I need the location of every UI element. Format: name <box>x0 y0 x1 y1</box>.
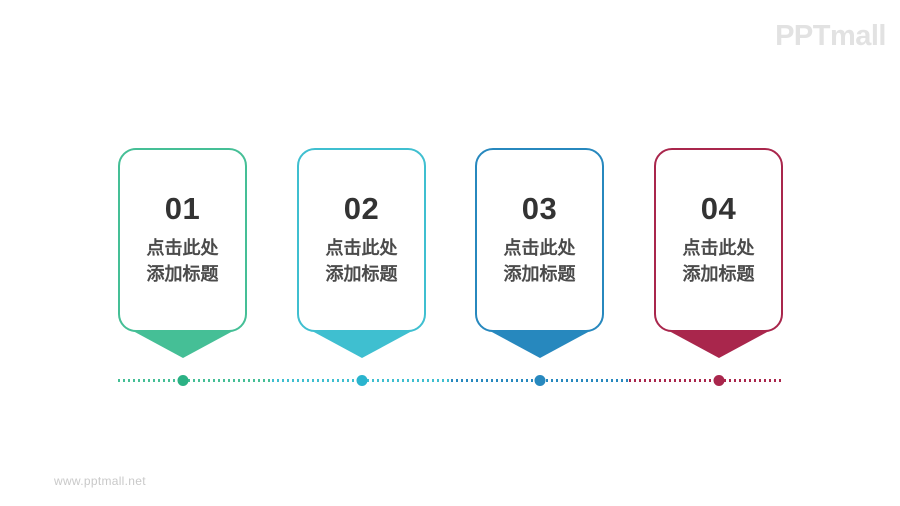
footer-website-url: www.pptmall.net <box>54 474 146 488</box>
timeline-dot-04[interactable] <box>713 375 724 386</box>
timeline-dot-02[interactable] <box>356 375 367 386</box>
step-caption-line-1: 点击此处 <box>477 236 602 262</box>
step-card-box[interactable]: 04 点击此处 添加标题 <box>654 148 783 332</box>
timeline-dot-03[interactable] <box>534 375 545 386</box>
step-caption-line-2: 添加标题 <box>299 262 424 288</box>
timeline-track <box>118 379 782 382</box>
step-caption-line-1: 点击此处 <box>656 236 781 262</box>
step-card-01[interactable]: 01 点击此处 添加标题 <box>118 148 247 360</box>
pptmall-logo: PPTmall <box>775 22 886 51</box>
timeline-segment-1 <box>118 379 272 382</box>
timeline-dot-01[interactable] <box>177 375 188 386</box>
timeline-segment-4 <box>629 379 782 382</box>
step-caption-line-2: 添加标题 <box>477 262 602 288</box>
step-caption: 点击此处 添加标题 <box>477 236 602 287</box>
step-number: 02 <box>299 193 424 224</box>
step-card-03[interactable]: 03 点击此处 添加标题 <box>475 148 604 360</box>
step-caption: 点击此处 添加标题 <box>120 236 245 287</box>
step-caption: 点击此处 添加标题 <box>299 236 424 287</box>
step-card-02[interactable]: 02 点击此处 添加标题 <box>297 148 426 360</box>
slide-canvas: PPTmall 01 点击此处 添加标题 02 点击此处 添加标题 <box>0 0 900 506</box>
step-caption-line-2: 添加标题 <box>120 262 245 288</box>
step-caption-line-1: 点击此处 <box>299 236 424 262</box>
step-card-box[interactable]: 03 点击此处 添加标题 <box>475 148 604 332</box>
step-card-box[interactable]: 01 点击此处 添加标题 <box>118 148 247 332</box>
step-caption-line-1: 点击此处 <box>120 236 245 262</box>
step-number: 04 <box>656 193 781 224</box>
step-pointer-triangle <box>133 331 233 358</box>
step-caption: 点击此处 添加标题 <box>656 236 781 287</box>
step-number: 01 <box>120 193 245 224</box>
step-pointer-triangle <box>312 331 412 358</box>
step-number: 03 <box>477 193 602 224</box>
step-caption-line-2: 添加标题 <box>656 262 781 288</box>
step-pointer-triangle <box>669 331 769 358</box>
step-pointer-triangle <box>490 331 590 358</box>
step-card-box[interactable]: 02 点击此处 添加标题 <box>297 148 426 332</box>
step-cards-row: 01 点击此处 添加标题 02 点击此处 添加标题 03 <box>118 148 782 360</box>
step-card-04[interactable]: 04 点击此处 添加标题 <box>654 148 783 360</box>
